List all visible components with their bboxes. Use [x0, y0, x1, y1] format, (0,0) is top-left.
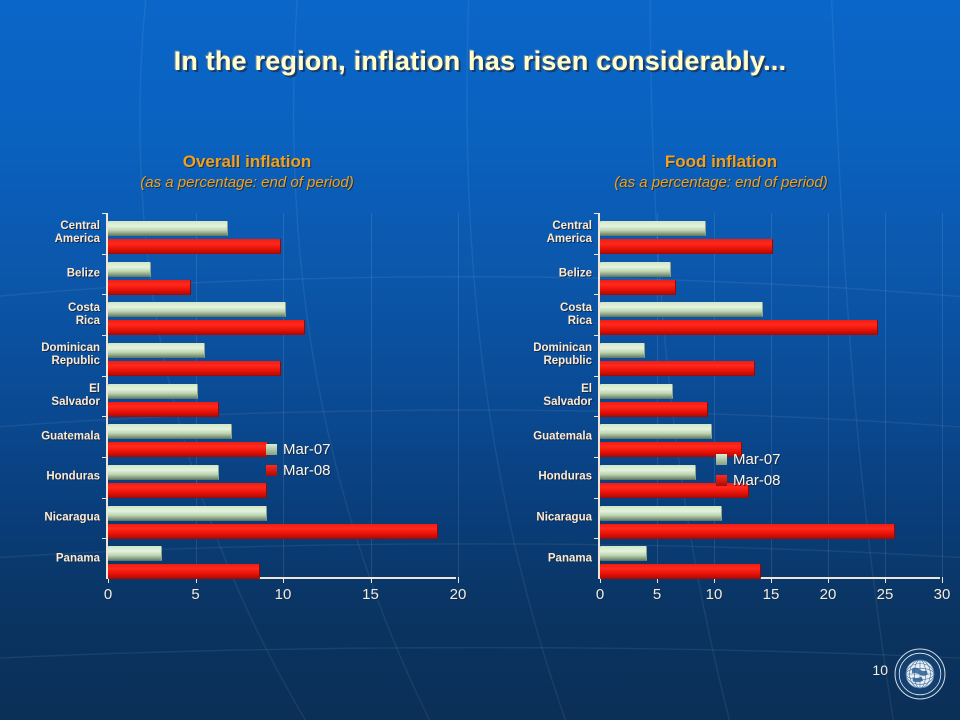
- x-axis-tick-label: 0: [596, 586, 604, 603]
- legend-item-mar08: Mar-08: [716, 472, 781, 489]
- x-axis-tick-label: 10: [706, 586, 723, 603]
- bar-mar-07: [600, 302, 763, 317]
- bar-mar-08: [108, 524, 438, 539]
- x-axis-tick: [885, 577, 886, 583]
- y-axis-tick: [102, 335, 108, 336]
- bar-mar-07: [108, 546, 162, 561]
- category-label: El Salvador: [543, 383, 592, 409]
- imf-logo: [894, 648, 946, 700]
- x-axis-tick: [283, 577, 284, 583]
- bar-mar-08: [600, 280, 676, 295]
- category-label: Honduras: [46, 471, 100, 484]
- bar-mar-08: [108, 564, 260, 579]
- category-label: Central America: [547, 220, 592, 246]
- category-label: Belize: [559, 268, 592, 281]
- bar-mar-07: [600, 343, 645, 358]
- bar-mar-07: [108, 302, 286, 317]
- x-axis-tick-label: 15: [362, 586, 379, 603]
- chart-subtitle-overall: (as a percentage: end of period): [8, 174, 486, 191]
- bar-mar-08: [600, 564, 761, 579]
- y-axis-tick: [594, 498, 600, 499]
- bar-mar-08: [600, 402, 708, 417]
- category-label: Central America: [55, 220, 100, 246]
- y-axis-tick: [594, 294, 600, 295]
- x-axis-tick-label: 15: [763, 586, 780, 603]
- slide-canvas: In the region, inflation has risen consi…: [0, 0, 960, 720]
- x-axis-tick: [458, 577, 459, 583]
- legend-item-mar07: Mar-07: [266, 441, 331, 458]
- bar-mar-08: [108, 280, 191, 295]
- y-axis-tick: [102, 254, 108, 255]
- y-axis-tick: [594, 254, 600, 255]
- x-axis-tick-label: 5: [653, 586, 661, 603]
- category-label: Costa Rica: [68, 302, 100, 328]
- y-axis-tick: [594, 376, 600, 377]
- bar-mar-07: [600, 221, 706, 236]
- x-axis-tick-label: 20: [450, 586, 467, 603]
- y-axis-tick: [102, 376, 108, 377]
- legend-swatch-icon-mar07: [716, 454, 727, 465]
- bar-mar-08: [600, 361, 755, 376]
- x-axis-tick-label: 10: [275, 586, 292, 603]
- y-axis-tick: [102, 213, 108, 214]
- legend-swatch-icon-mar08: [266, 465, 277, 476]
- chart-title-overall: Overall inflation: [8, 152, 486, 172]
- bar-mar-08: [108, 239, 281, 254]
- category-label: Dominican Republic: [41, 342, 100, 368]
- y-axis-tick: [594, 335, 600, 336]
- x-axis-tick: [771, 577, 772, 583]
- bar-mar-08: [600, 239, 773, 254]
- category-label: Dominican Republic: [533, 342, 592, 368]
- y-axis-tick: [102, 538, 108, 539]
- category-label: Costa Rica: [560, 302, 592, 328]
- y-axis-tick: [102, 498, 108, 499]
- legend-swatch-icon-mar07: [266, 444, 277, 455]
- legend-overall: Mar-07 Mar-08: [266, 441, 331, 483]
- legend-swatch-icon-mar08: [716, 475, 727, 486]
- gridline: [283, 213, 284, 577]
- legend-label-mar08: Mar-08: [733, 472, 781, 489]
- plot-area-overall: 05101520: [106, 213, 456, 579]
- bar-mar-08: [108, 320, 305, 335]
- y-axis-tick: [102, 416, 108, 417]
- gridline: [942, 213, 943, 577]
- x-axis-tick-label: 20: [820, 586, 837, 603]
- bar-mar-07: [108, 506, 267, 521]
- gridline: [371, 213, 372, 577]
- bar-mar-07: [108, 262, 151, 277]
- gridline: [458, 213, 459, 577]
- legend-label-mar08: Mar-08: [283, 462, 331, 479]
- chart-subtitle-food: (as a percentage: end of period): [486, 174, 956, 191]
- bar-mar-07: [108, 343, 205, 358]
- x-axis-tick: [942, 577, 943, 583]
- bar-mar-07: [108, 221, 228, 236]
- page-number: 10: [872, 662, 888, 678]
- bar-mar-07: [600, 546, 647, 561]
- bar-mar-08: [108, 402, 219, 417]
- category-label: Panama: [548, 552, 592, 565]
- gridline: [714, 213, 715, 577]
- page-title: In the region, inflation has risen consi…: [0, 46, 960, 77]
- bar-mar-07: [600, 262, 671, 277]
- category-label: Nicaragua: [44, 512, 100, 525]
- bar-mar-07: [600, 384, 673, 399]
- y-axis-tick: [594, 538, 600, 539]
- gridline: [828, 213, 829, 577]
- category-label: Guatemala: [41, 430, 100, 443]
- chart-title-food: Food inflation: [486, 152, 956, 172]
- x-axis-tick-label: 30: [934, 586, 951, 603]
- bar-mar-07: [600, 424, 712, 439]
- bar-mar-07: [108, 424, 232, 439]
- bar-mar-07: [600, 506, 722, 521]
- bar-mar-07: [108, 384, 198, 399]
- bar-mar-08: [600, 320, 878, 335]
- x-axis-tick: [371, 577, 372, 583]
- bar-mar-07: [108, 465, 219, 480]
- x-axis-tick-label: 5: [191, 586, 199, 603]
- chart-panel-overall-inflation: Overall inflation (as a percentage: end …: [8, 152, 486, 613]
- category-label: Guatemala: [533, 430, 592, 443]
- x-axis-tick-label: 0: [104, 586, 112, 603]
- legend-label-mar07: Mar-07: [733, 451, 781, 468]
- bar-mar-07: [600, 465, 696, 480]
- legend-item-mar08: Mar-08: [266, 462, 331, 479]
- x-axis-tick-label: 25: [877, 586, 894, 603]
- legend-food: Mar-07 Mar-08: [716, 451, 781, 493]
- plot-area-food: 051015202530: [598, 213, 940, 579]
- bar-mar-08: [108, 442, 268, 457]
- y-axis-tick: [594, 213, 600, 214]
- category-label: El Salvador: [51, 383, 100, 409]
- bar-mar-08: [108, 361, 281, 376]
- bar-mar-08: [108, 483, 267, 498]
- legend-label-mar07: Mar-07: [283, 441, 331, 458]
- y-axis-tick: [102, 294, 108, 295]
- y-axis-tick: [102, 457, 108, 458]
- y-axis-tick: [594, 416, 600, 417]
- gridline: [771, 213, 772, 577]
- legend-item-mar07: Mar-07: [716, 451, 781, 468]
- category-label: Belize: [67, 268, 100, 281]
- x-axis-tick: [828, 577, 829, 583]
- y-axis-tick: [594, 457, 600, 458]
- chart-panel-food-inflation: Food inflation (as a percentage: end of …: [486, 152, 956, 613]
- gridline: [885, 213, 886, 577]
- category-label: Honduras: [538, 471, 592, 484]
- category-label: Nicaragua: [536, 512, 592, 525]
- bar-mar-08: [600, 524, 895, 539]
- category-label: Panama: [56, 552, 100, 565]
